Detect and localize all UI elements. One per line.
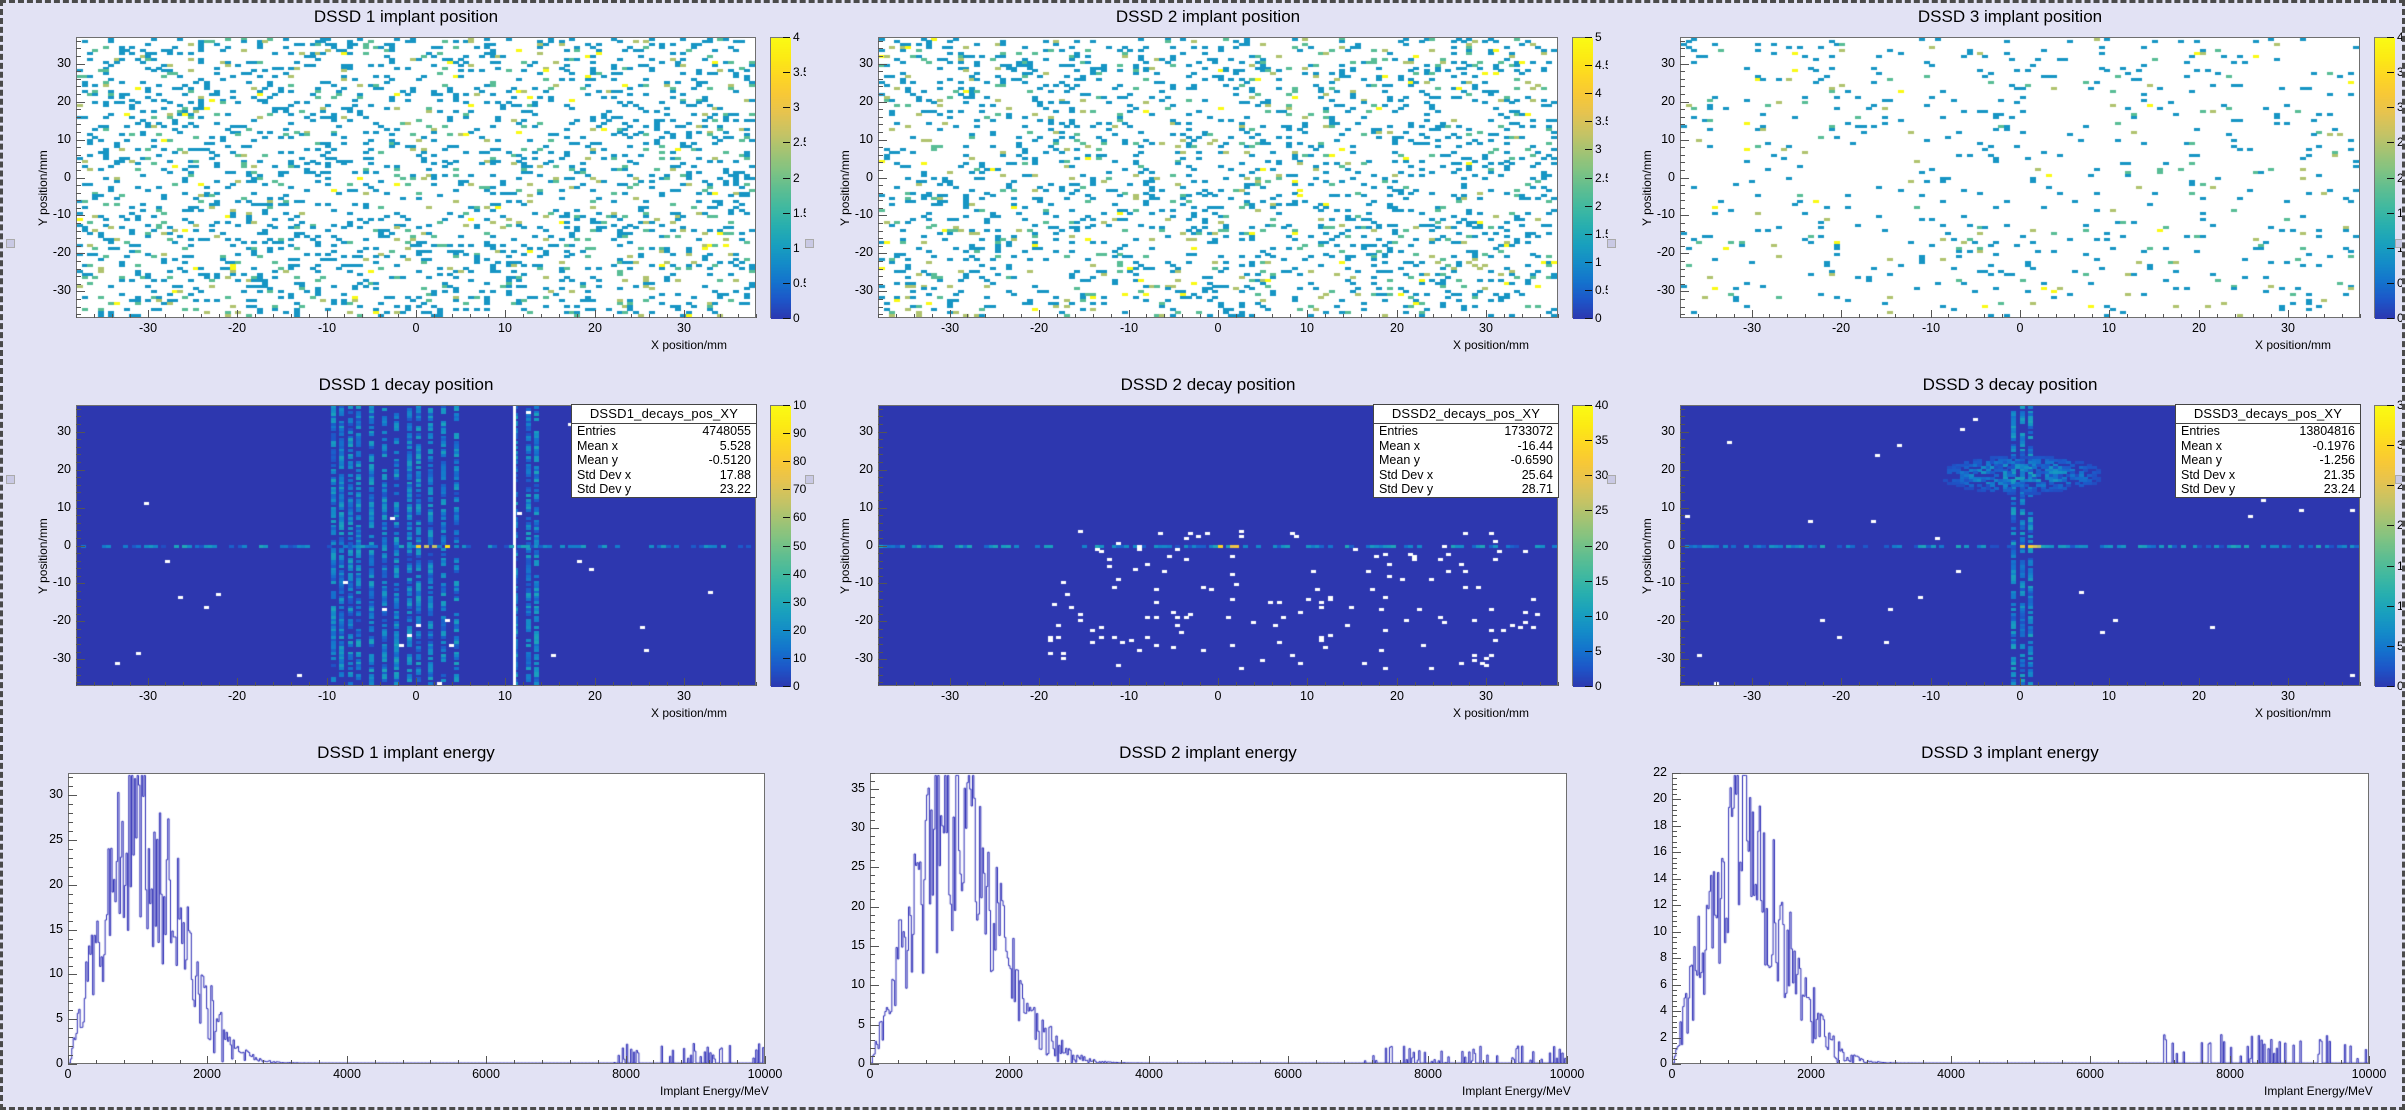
x-minor-tick — [1075, 682, 1076, 686]
y-minor-tick — [68, 1046, 73, 1047]
pad-dssd2-implant-energy: DSSD 2 implant energy0200040006000800010… — [808, 739, 1608, 1107]
x-minor-tick — [523, 314, 524, 318]
x-minor-tick — [982, 1060, 983, 1064]
y-minor-tick — [68, 867, 73, 868]
x-axis-title: X position/mm — [1453, 706, 1529, 720]
color-bar-tick — [1585, 93, 1592, 94]
y-tick-label: -20 — [1657, 613, 1675, 627]
stats-box: DSSD2_decays_pos_XYEntries1733072Mean x-… — [1373, 404, 1559, 498]
x-minor-tick — [94, 314, 95, 318]
y-minor-tick — [870, 812, 875, 813]
x-minor-tick — [1177, 1060, 1178, 1064]
stats-row: Mean x5.528 — [572, 439, 756, 454]
x-tick-label: -20 — [228, 689, 246, 703]
y-minor-tick — [878, 652, 883, 653]
x-minor-tick — [398, 314, 399, 318]
x-minor-tick — [950, 682, 951, 686]
x-minor-tick — [112, 314, 113, 318]
color-bar-label: 10 — [2397, 599, 2405, 613]
y-minor-tick — [1680, 644, 1685, 645]
y-minor-tick — [1672, 995, 1677, 996]
x-tick-label: -20 — [1030, 321, 1048, 335]
y-minor-tick — [76, 568, 81, 569]
pad-dssd2-decay-position: DSSD 2 decay position-30-20-100102030-30… — [808, 371, 1608, 739]
y-minor-tick — [1672, 1059, 1677, 1060]
x-minor-tick — [1716, 314, 1717, 318]
y-minor-tick — [76, 276, 81, 277]
y-tick-label: 4 — [1660, 1003, 1667, 1017]
y-minor-tick — [1680, 538, 1685, 539]
stats-key: Entries — [577, 424, 616, 439]
x-minor-tick — [765, 1060, 766, 1064]
x-minor-tick — [2092, 314, 2093, 318]
y-minor-tick — [870, 1048, 875, 1049]
x-tick-label: 30 — [1479, 321, 1493, 335]
pad-resize-handle[interactable] — [6, 475, 15, 484]
y-tick-label: -20 — [1657, 245, 1675, 259]
y-minor-tick — [878, 41, 883, 42]
x-axis-title: X position/mm — [651, 338, 727, 352]
y-minor-tick — [68, 1010, 73, 1011]
y-minor-tick — [76, 208, 81, 209]
x-minor-tick — [702, 314, 703, 318]
y-minor-tick — [68, 930, 73, 931]
x-minor-tick — [1698, 314, 1699, 318]
color-bar-tick — [2387, 142, 2394, 143]
pad-resize-handle[interactable] — [2395, 475, 2404, 484]
x-minor-tick — [1379, 314, 1380, 318]
y-minor-tick — [1672, 778, 1677, 779]
x-minor-tick — [595, 682, 596, 686]
y-minor-tick — [870, 977, 875, 978]
x-tick-label: -20 — [1030, 689, 1048, 703]
y-tick-label: 30 — [57, 424, 71, 438]
x-tick-label: -20 — [1832, 321, 1850, 335]
y-minor-tick — [878, 432, 883, 433]
x-axis-title: X position/mm — [1453, 338, 1529, 352]
color-bar-label: 25 — [1595, 503, 1608, 517]
x-tick-label: -20 — [228, 321, 246, 335]
y-minor-tick — [76, 629, 81, 630]
x-minor-tick — [2090, 1060, 2091, 1064]
x-minor-tick — [207, 1060, 208, 1064]
x-minor-tick — [2145, 314, 2146, 318]
color-bar-gradient — [2375, 406, 2395, 687]
y-minor-tick — [878, 185, 883, 186]
x-minor-tick — [1129, 682, 1130, 686]
color-bar-label: 5000 — [793, 539, 806, 553]
color-bar-tick — [1585, 149, 1592, 150]
y-minor-tick — [878, 299, 883, 300]
y-minor-tick — [68, 858, 73, 859]
y-minor-tick — [76, 682, 81, 683]
x-minor-tick — [1316, 1060, 1317, 1064]
x-minor-tick — [2285, 1060, 2286, 1064]
y-minor-tick — [76, 416, 81, 417]
x-tick-label: 0 — [413, 321, 420, 335]
x-axis-title: X position/mm — [651, 706, 727, 720]
y-minor-tick — [1680, 269, 1685, 270]
stats-key: Mean x — [577, 439, 618, 454]
y-minor-tick — [1672, 1038, 1677, 1039]
y-minor-tick — [1680, 170, 1685, 171]
x-minor-tick — [598, 1060, 599, 1064]
y-minor-tick — [76, 56, 81, 57]
y-tick-label: -10 — [53, 575, 71, 589]
x-minor-tick — [2145, 682, 2146, 686]
x-minor-tick — [1400, 1060, 1401, 1064]
x-minor-tick — [1787, 314, 1788, 318]
color-bar-tick — [783, 248, 790, 249]
x-minor-tick — [1948, 314, 1949, 318]
x-minor-tick — [2288, 682, 2289, 686]
x-minor-tick — [1948, 682, 1949, 686]
y-minor-tick — [68, 974, 73, 975]
y-minor-tick — [1672, 773, 1677, 774]
x-tick-label: -10 — [318, 689, 336, 703]
y-minor-tick — [76, 470, 81, 471]
x-minor-tick — [124, 1060, 125, 1064]
y-minor-tick — [878, 523, 883, 524]
x-minor-tick — [1009, 1060, 1010, 1064]
y-minor-tick — [1672, 990, 1677, 991]
pad-resize-handle[interactable] — [6, 239, 15, 248]
color-bar-tick — [1585, 510, 1592, 511]
y-minor-tick — [1680, 109, 1685, 110]
x-tick-label: 6000 — [1274, 1067, 1302, 1081]
y-minor-tick — [1672, 900, 1677, 901]
y-tick-label: 30 — [1661, 424, 1675, 438]
y-minor-tick — [878, 109, 883, 110]
stats-row: Mean x-16.44 — [1374, 439, 1558, 454]
pad-resize-handle[interactable] — [1607, 239, 1616, 248]
x-minor-tick — [653, 1060, 654, 1064]
stats-value: 4748055 — [702, 424, 751, 439]
x-minor-tick — [1539, 1060, 1540, 1064]
color-bar-label: 3 — [2397, 100, 2404, 114]
y-tick-label: 5 — [858, 1017, 865, 1031]
color-bar-tick — [2387, 405, 2394, 406]
pad-resize-handle[interactable] — [1607, 475, 1616, 484]
y-minor-tick — [1672, 979, 1677, 980]
x-minor-tick — [1182, 682, 1183, 686]
y-minor-tick — [76, 508, 81, 509]
y-tick-label: 10 — [49, 966, 63, 980]
y-tick-label: -30 — [855, 651, 873, 665]
y-minor-tick — [878, 307, 883, 308]
x-tick-label: 8000 — [1414, 1067, 1442, 1081]
y-minor-tick — [76, 193, 81, 194]
y-minor-tick — [1672, 836, 1677, 837]
x-minor-tick — [1290, 314, 1291, 318]
stats-row: Std Dev y23.24 — [2176, 482, 2360, 497]
y-minor-tick — [1680, 299, 1685, 300]
y-minor-tick — [1672, 932, 1677, 933]
x-minor-tick — [152, 1060, 153, 1064]
y-minor-tick — [76, 523, 81, 524]
y-minor-tick — [878, 492, 883, 493]
y-minor-tick — [1672, 863, 1677, 864]
x-minor-tick — [1716, 682, 1717, 686]
x-minor-tick — [1149, 1060, 1150, 1064]
color-bar — [2374, 405, 2394, 686]
y-minor-tick — [1680, 447, 1685, 448]
x-minor-tick — [954, 1060, 955, 1064]
y-minor-tick — [1680, 439, 1685, 440]
panel-title: DSSD 3 implant position — [1610, 7, 2405, 27]
y-minor-tick — [878, 644, 883, 645]
y-minor-tick — [76, 614, 81, 615]
y-tick-label: 20 — [859, 94, 873, 108]
y-minor-tick — [68, 957, 73, 958]
x-tick-label: -10 — [1120, 689, 1138, 703]
y-minor-tick — [1672, 1022, 1677, 1023]
y-minor-tick — [1680, 500, 1685, 501]
x-minor-tick — [1164, 682, 1165, 686]
x-minor-tick — [2181, 314, 2182, 318]
y-minor-tick — [1680, 223, 1685, 224]
y-minor-tick — [870, 828, 875, 829]
x-minor-tick — [237, 314, 238, 318]
y-minor-tick — [1672, 884, 1677, 885]
x-tick-label: 30 — [1479, 689, 1493, 703]
y-axis-title: Y position/mm — [36, 518, 50, 594]
y-minor-tick — [878, 538, 883, 539]
panel-title: DSSD 3 implant energy — [1610, 743, 2405, 763]
y-minor-tick — [1680, 477, 1685, 478]
y-minor-tick — [1680, 454, 1685, 455]
y-minor-tick — [1672, 895, 1677, 896]
x-minor-tick — [577, 682, 578, 686]
y-minor-tick — [76, 454, 81, 455]
y-minor-tick — [76, 644, 81, 645]
x-minor-tick — [1700, 1060, 1701, 1064]
y-tick-label: 18 — [1653, 818, 1667, 832]
y-minor-tick — [1672, 963, 1677, 964]
x-minor-tick — [398, 682, 399, 686]
x-minor-tick — [1486, 682, 1487, 686]
x-minor-tick — [2253, 682, 2254, 686]
x-minor-tick — [2306, 682, 2307, 686]
color-bar-tick — [783, 433, 790, 434]
y-minor-tick — [878, 485, 883, 486]
y-minor-tick — [76, 185, 81, 186]
y-minor-tick — [1680, 470, 1685, 471]
y-minor-tick — [76, 439, 81, 440]
x-minor-tick — [2062, 1060, 2063, 1064]
color-bar-label: 0 — [2397, 311, 2404, 325]
y-tick-label: 30 — [859, 424, 873, 438]
x-minor-tick — [1895, 1060, 1896, 1064]
stats-row: Mean y-1.256 — [2176, 453, 2360, 468]
y-minor-tick — [76, 299, 81, 300]
stats-value: 23.24 — [2324, 482, 2355, 497]
x-minor-tick — [1003, 682, 1004, 686]
color-bar-tick — [2387, 566, 2394, 567]
stats-key: Entries — [2181, 424, 2220, 439]
panel-title: DSSD 2 implant position — [808, 7, 1608, 27]
x-minor-tick — [1272, 682, 1273, 686]
x-minor-tick — [1469, 682, 1470, 686]
y-tick-label: -30 — [53, 283, 71, 297]
stats-key: Mean y — [577, 453, 618, 468]
x-minor-tick — [488, 682, 489, 686]
y-minor-tick — [1680, 41, 1685, 42]
y-minor-tick — [1680, 86, 1685, 87]
y-minor-tick — [1680, 485, 1685, 486]
x-minor-tick — [1111, 682, 1112, 686]
y-tick-label: -10 — [855, 575, 873, 589]
x-tick-label: 6000 — [2076, 1067, 2104, 1081]
color-bar-label: 0 — [1595, 679, 1602, 693]
y-minor-tick — [878, 261, 883, 262]
x-minor-tick — [255, 314, 256, 318]
x-minor-tick — [523, 682, 524, 686]
y-minor-tick — [870, 867, 875, 868]
x-minor-tick — [1057, 682, 1058, 686]
y-minor-tick — [1672, 1032, 1677, 1033]
y-minor-tick — [68, 966, 73, 967]
x-tick-label: 8000 — [2216, 1067, 2244, 1081]
color-bar-label: 2 — [2397, 171, 2404, 185]
y-minor-tick — [76, 307, 81, 308]
x-minor-tick — [2342, 314, 2343, 318]
y-minor-tick — [1672, 874, 1677, 875]
x-minor-tick — [486, 1060, 487, 1064]
plot-surface — [69, 774, 764, 1063]
x-tick-label: 30 — [2281, 321, 2295, 335]
y-tick-label: -10 — [1657, 575, 1675, 589]
plot-frame — [878, 37, 1558, 318]
y-minor-tick — [1672, 1053, 1677, 1054]
y-minor-tick — [878, 470, 883, 471]
color-bar-tick — [1585, 686, 1592, 687]
y-minor-tick — [878, 500, 883, 501]
y-minor-tick — [1680, 314, 1685, 315]
y-minor-tick — [878, 530, 883, 531]
y-minor-tick — [870, 954, 875, 955]
stats-value: 21.35 — [2324, 468, 2355, 483]
x-minor-tick — [165, 314, 166, 318]
x-minor-tick — [667, 682, 668, 686]
x-tick-label: -30 — [941, 321, 959, 335]
x-tick-label: 0 — [1215, 321, 1222, 335]
y-minor-tick — [878, 675, 883, 676]
y-minor-tick — [1680, 193, 1685, 194]
x-minor-tick — [2092, 682, 2093, 686]
pad-dssd1-implant-energy: DSSD 1 implant energy0200040006000800010… — [6, 739, 806, 1107]
stats-value: 23.22 — [720, 482, 751, 497]
x-tick-label: 2000 — [1797, 1067, 1825, 1081]
x-minor-tick — [738, 314, 739, 318]
y-minor-tick — [878, 71, 883, 72]
y-minor-tick — [76, 667, 81, 668]
x-minor-tick — [577, 314, 578, 318]
x-minor-tick — [255, 682, 256, 686]
x-minor-tick — [896, 682, 897, 686]
y-minor-tick — [68, 777, 73, 778]
x-minor-tick — [1483, 1060, 1484, 1064]
y-minor-tick — [878, 117, 883, 118]
y-minor-tick — [878, 140, 883, 141]
y-tick-label: -20 — [855, 245, 873, 259]
y-tick-label: 20 — [57, 94, 71, 108]
x-minor-tick — [201, 682, 202, 686]
stats-key: Mean x — [2181, 439, 2222, 454]
y-minor-tick — [878, 606, 883, 607]
color-bar-tick — [2387, 178, 2394, 179]
y-minor-tick — [1680, 147, 1685, 148]
x-minor-tick — [327, 314, 328, 318]
pad-resize-handle[interactable] — [2395, 239, 2404, 248]
x-minor-tick — [1325, 314, 1326, 318]
y-minor-tick — [878, 659, 883, 660]
stats-row: Entries1733072 — [1374, 424, 1558, 439]
y-minor-tick — [76, 462, 81, 463]
x-minor-tick — [1129, 314, 1130, 318]
y-minor-tick — [878, 276, 883, 277]
y-minor-tick — [1680, 200, 1685, 201]
y-minor-tick — [76, 621, 81, 622]
x-minor-tick — [1756, 1060, 1757, 1064]
y-minor-tick — [878, 591, 883, 592]
y-tick-label: 12 — [1653, 897, 1667, 911]
x-minor-tick — [649, 314, 650, 318]
x-minor-tick — [1895, 314, 1896, 318]
x-tick-label: 20 — [1390, 689, 1404, 703]
y-minor-tick — [1672, 953, 1677, 954]
y-minor-tick — [878, 86, 883, 87]
color-bar-tick — [2387, 248, 2394, 249]
x-minor-tick — [631, 682, 632, 686]
x-minor-tick — [1979, 1060, 1980, 1064]
x-tick-label: 2000 — [995, 1067, 1023, 1081]
pad-resize-handle[interactable] — [805, 239, 814, 248]
color-bar-label: 2 — [793, 171, 800, 185]
y-minor-tick — [1680, 208, 1685, 209]
color-bar-label: 4 — [793, 30, 800, 44]
x-tick-label: 4000 — [1937, 1067, 1965, 1081]
color-bar-tick — [1585, 651, 1592, 652]
x-minor-tick — [2324, 314, 2325, 318]
y-minor-tick — [68, 795, 73, 796]
y-minor-tick — [68, 912, 73, 913]
x-minor-tick — [1343, 314, 1344, 318]
x-minor-tick — [1121, 1060, 1122, 1064]
y-minor-tick — [1680, 591, 1685, 592]
y-tick-label: -20 — [53, 613, 71, 627]
y-minor-tick — [1680, 178, 1685, 179]
x-minor-tick — [667, 314, 668, 318]
x-minor-tick — [1769, 682, 1770, 686]
y-minor-tick — [68, 983, 73, 984]
y-minor-tick — [76, 546, 81, 547]
y-minor-tick — [1680, 432, 1685, 433]
color-bar-label: 2 — [1595, 199, 1602, 213]
x-minor-tick — [2199, 682, 2200, 686]
color-bar-tick — [1585, 206, 1592, 207]
x-minor-tick — [380, 314, 381, 318]
y-minor-tick — [1680, 606, 1685, 607]
x-minor-tick — [1966, 682, 1967, 686]
color-bar-label: 4000 — [793, 567, 806, 581]
pad-resize-handle[interactable] — [805, 475, 814, 484]
y-minor-tick — [68, 840, 73, 841]
x-minor-tick — [559, 314, 560, 318]
pad-dssd3-decay-position: DSSD 3 decay position-30-20-100102030-30… — [1610, 371, 2405, 739]
y-minor-tick — [1680, 162, 1685, 163]
x-minor-tick — [1200, 314, 1201, 318]
